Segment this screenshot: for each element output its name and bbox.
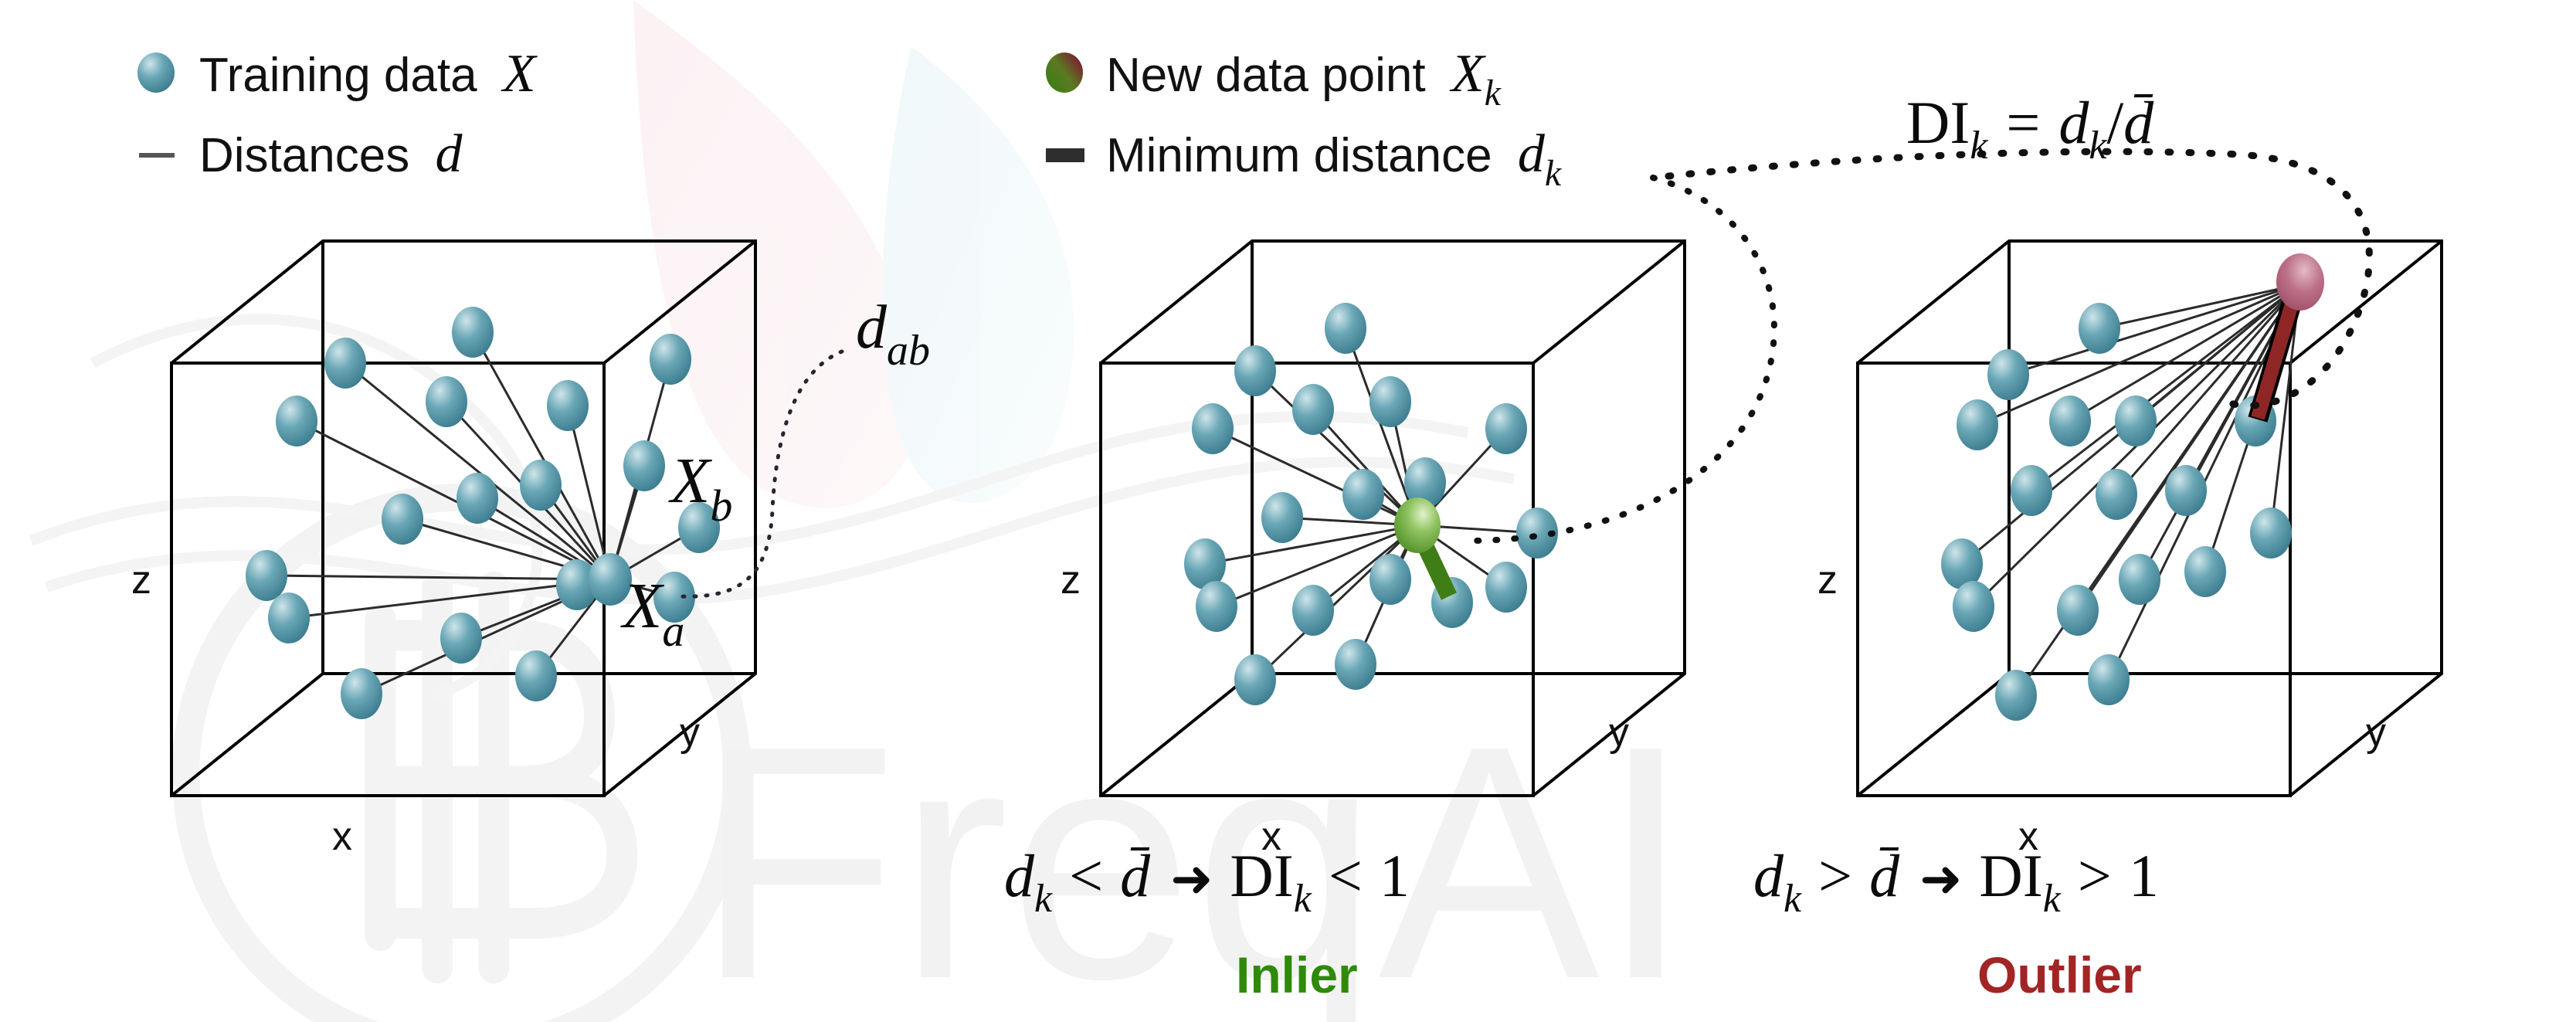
legend-training-data[interactable]: Training data X bbox=[137, 44, 538, 104]
legend-distances-label: Distances d bbox=[199, 124, 463, 184]
verdict-inlier: Inlier bbox=[1236, 946, 1358, 1003]
diagram-canvas: FreqAI bbox=[0, 0, 2576, 1022]
thin-dash-icon bbox=[139, 153, 175, 158]
text-layer: Training data X Distances d New data poi… bbox=[0, 0, 2576, 1022]
legend-training-data-label: Training data X bbox=[199, 44, 538, 104]
sphere-gradient-icon bbox=[1046, 53, 1083, 93]
formula-di-definition: DIk=dk/d̄ bbox=[1906, 89, 2154, 168]
legend-new-data-point-label: New data point Xk bbox=[1106, 44, 1502, 114]
legend-minimum-distance-label: Minimum distance dk bbox=[1106, 124, 1563, 194]
thick-dash-icon bbox=[1046, 148, 1084, 162]
legend-minimum-distance[interactable]: Minimum distance dk bbox=[1046, 124, 1563, 194]
legend-new-data-point[interactable]: New data point Xk bbox=[1046, 44, 1502, 114]
verdict-outlier: Outlier bbox=[1977, 946, 2142, 1003]
formula-inlier: dk<d̄➜DIk<1 bbox=[1004, 842, 1410, 921]
sphere-teal-icon bbox=[137, 53, 175, 93]
legend-distances[interactable]: Distances d bbox=[139, 124, 463, 184]
formula-outlier: dk>d̄➜DIk>1 bbox=[1753, 842, 2159, 921]
